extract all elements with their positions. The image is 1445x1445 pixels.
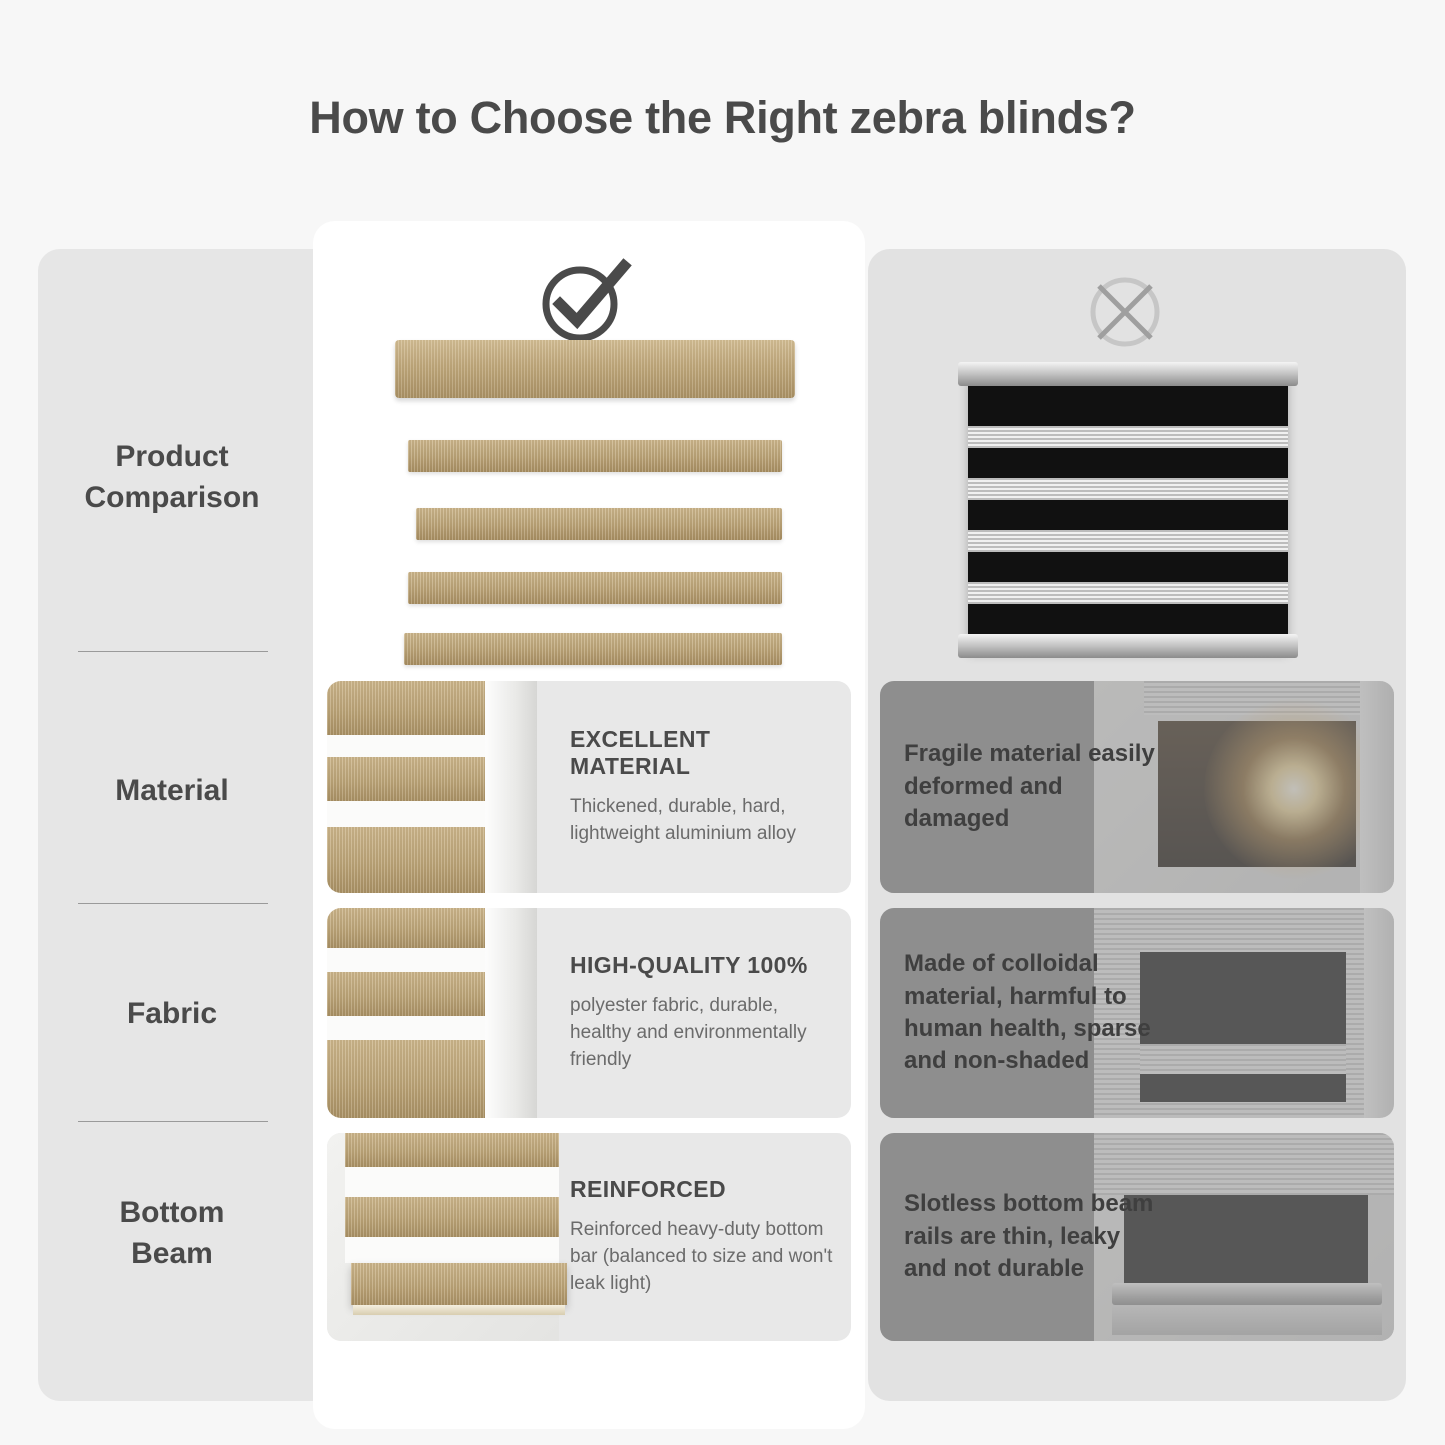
row-label-fabric: Fabric [62,993,282,1034]
row-label-material: Material [62,770,282,811]
hero-bad-bottom-rail [958,634,1298,658]
bad-card-bottom-beam: Slotless bottom beam rails are thin, lea… [880,1133,1394,1341]
hero-bad-top-rail [958,362,1298,386]
good-card-fabric-text: HIGH-QUALITY 100% polyester fabric, dura… [570,908,833,1118]
hero-slat [408,572,782,604]
bottom-bar-graphic [327,1133,559,1341]
window-frame-graphic [327,681,537,893]
good-card-bottom-beam: REINFORCED Reinforced heavy-duty bottom … [327,1133,851,1341]
good-card-bottom-beam-image [327,1133,559,1341]
hero-good-blind-image [395,340,795,670]
good-card-fabric-heading: HIGH-QUALITY 100% [570,952,833,979]
good-card-bottom-beam-text: REINFORCED Reinforced heavy-duty bottom … [570,1133,833,1341]
divider-1 [78,651,268,652]
page-title: How to Choose the Right zebra blinds? [0,92,1445,144]
hero-bad-mesh-band [968,478,1288,500]
bad-card-bottom-beam-text: Slotless bottom beam rails are thin, lea… [904,1133,1164,1341]
good-card-bottom-beam-body: Reinforced heavy-duty bottom bar (balanc… [570,1217,833,1298]
bad-card-fabric-text: Made of colloidal material, harmful to h… [904,908,1164,1118]
good-card-fabric-body: polyester fabric, durable, healthy and e… [570,993,833,1074]
zebra-blind-graphic [327,681,485,893]
row-label-product-line1: Product [62,436,282,477]
window-frame-graphic [327,908,537,1118]
cross-mark-icon [1085,272,1165,357]
bad-card-fabric-heading: Made of colloidal material, harmful to h… [904,948,1164,1078]
infographic-page: How to Choose the Right zebra blinds? Pr… [0,0,1445,1445]
row-label-product-line2: Comparison [62,477,282,518]
bad-card-material-heading: Fragile material easily deformed and dam… [904,738,1164,835]
hero-slat [408,440,782,472]
good-card-material: EXCELLENT MATERIAL Thickened, durable, h… [327,681,851,893]
window-casing-graphic [485,681,537,893]
row-label-bottom-line2: Beam [62,1233,282,1274]
hero-bad-mesh-band [968,582,1288,604]
hero-slat [404,633,782,665]
good-card-fabric: HIGH-QUALITY 100% polyester fabric, dura… [327,908,851,1118]
good-card-material-image [327,681,537,893]
bad-card-bottom-beam-heading: Slotless bottom beam rails are thin, lea… [904,1188,1164,1285]
good-card-material-body: Thickened, durable, hard, lightweight al… [570,794,833,848]
hero-head-rail [395,340,795,398]
hero-slat [416,508,782,540]
good-card-bottom-beam-heading: REINFORCED [570,1176,833,1203]
zebra-blind-graphic [327,908,485,1118]
hero-bad-blind-image [968,368,1288,650]
good-card-material-heading: EXCELLENT MATERIAL [570,726,833,780]
check-mark-icon [540,258,634,351]
bad-card-fabric: Made of colloidal material, harmful to h… [880,908,1394,1118]
good-card-material-text: EXCELLENT MATERIAL Thickened, durable, h… [570,681,833,893]
window-casing-graphic [485,908,537,1118]
bad-card-material: Fragile material easily deformed and dam… [880,681,1394,893]
hero-bad-mesh-band [968,530,1288,552]
row-label-bottom-line1: Bottom [62,1192,282,1233]
divider-3 [78,1121,268,1122]
good-card-fabric-image [327,908,537,1118]
row-label-bottom-beam: Bottom Beam [62,1192,282,1275]
row-label-product-comparison: Product Comparison [62,436,282,519]
bad-card-material-text: Fragile material easily deformed and dam… [904,681,1164,893]
divider-2 [78,903,268,904]
hero-bad-mesh-band [968,426,1288,448]
